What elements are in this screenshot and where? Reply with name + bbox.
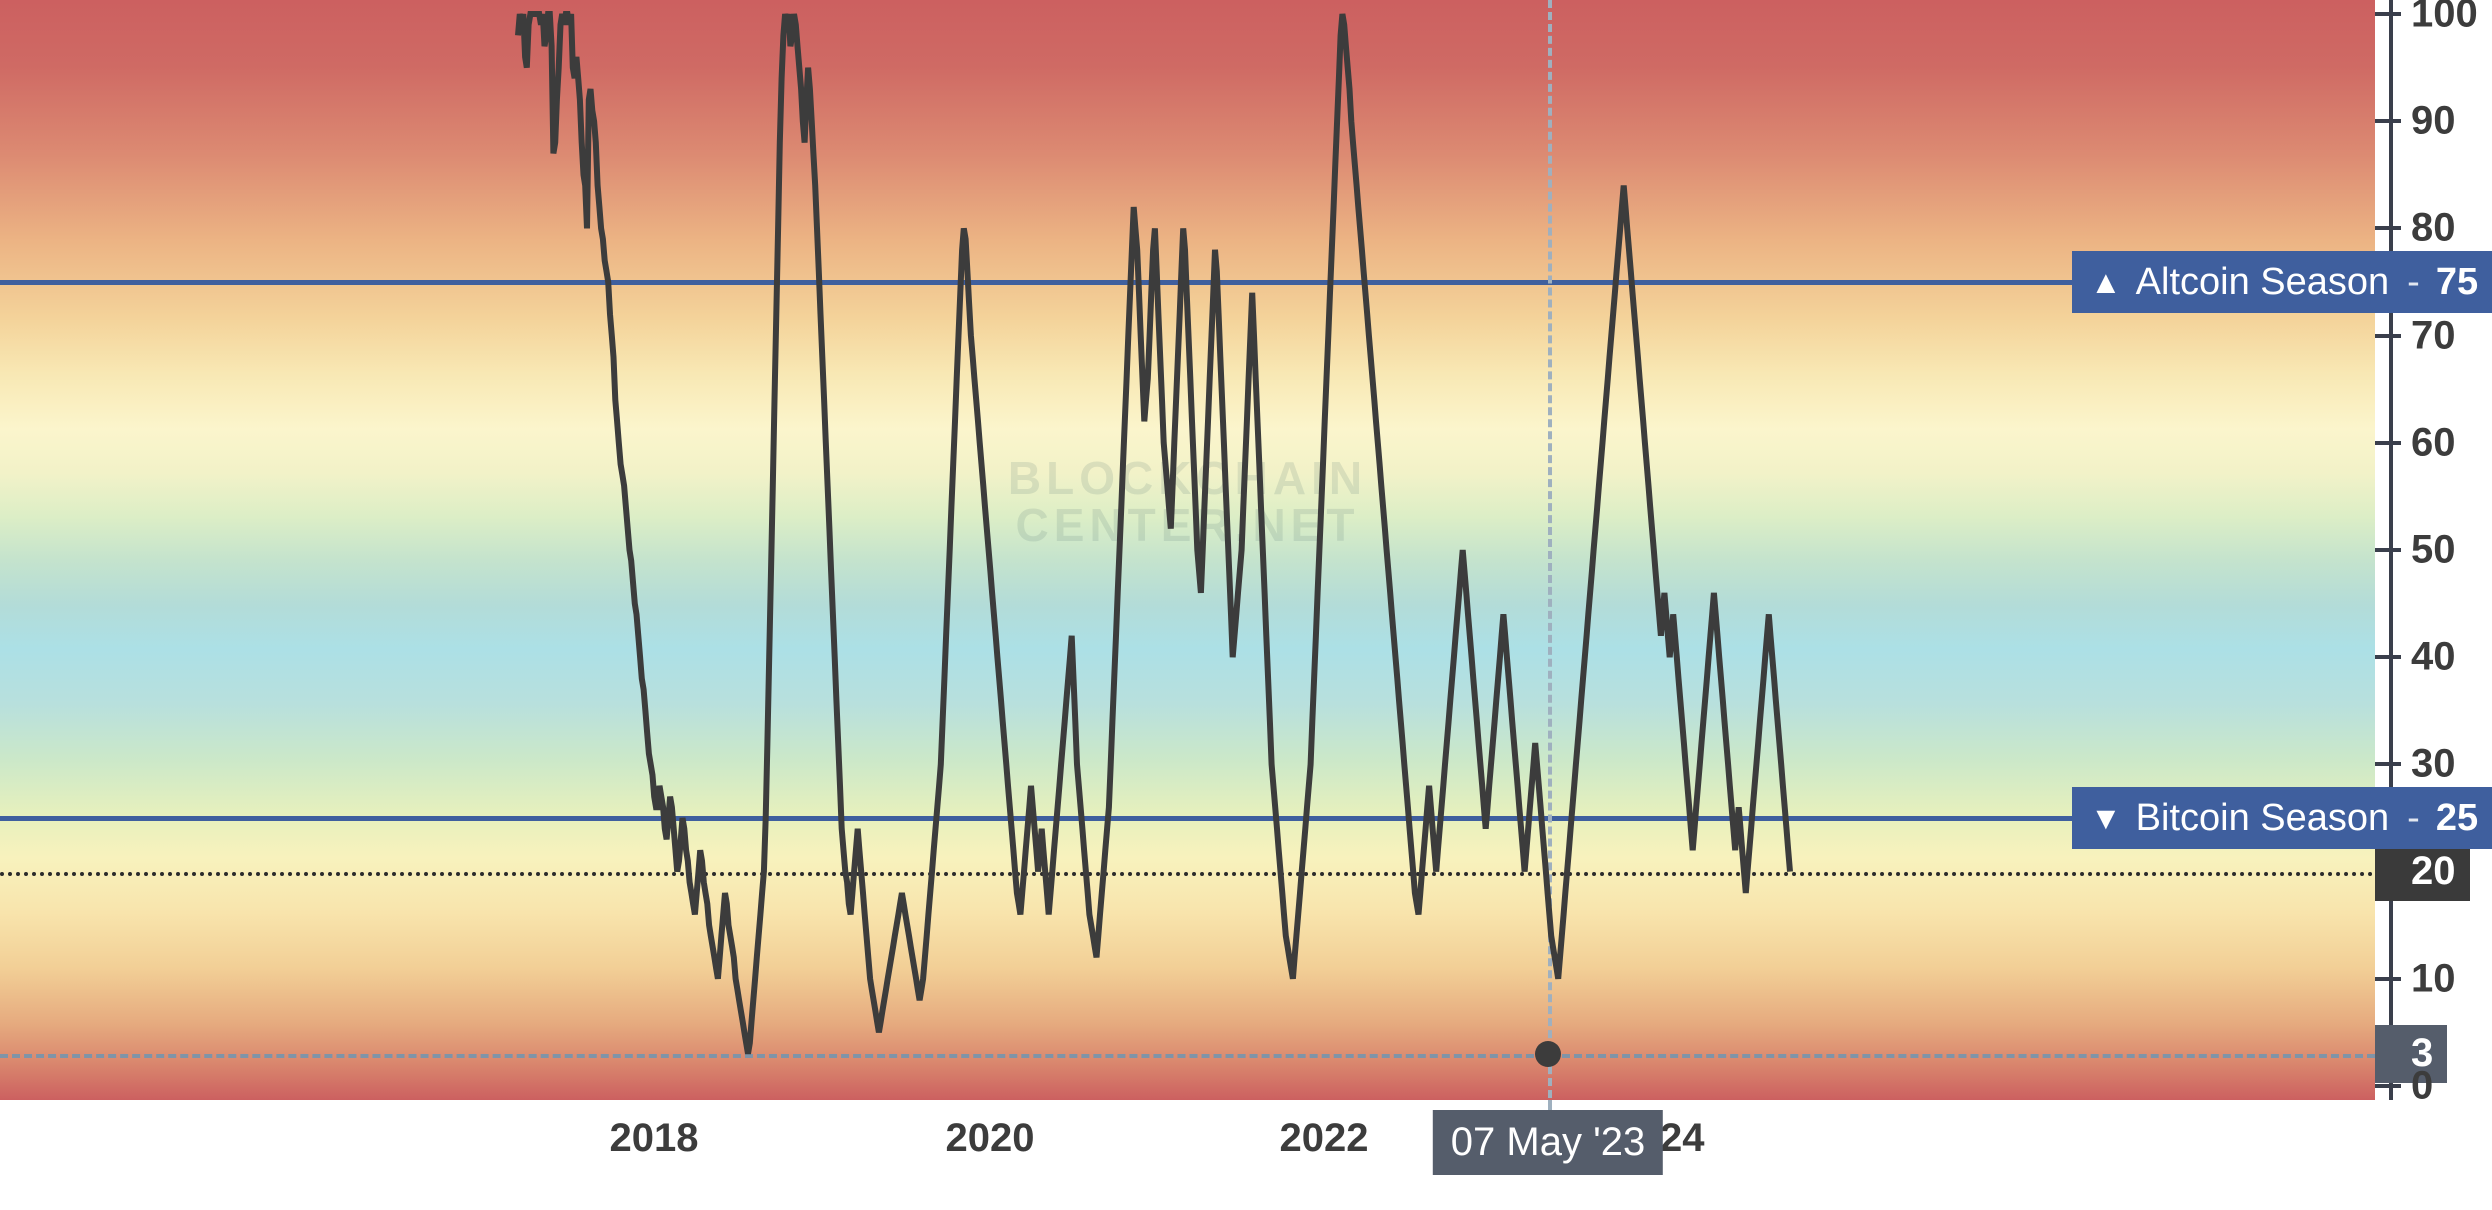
season-threshold-value: 25 <box>2436 797 2478 840</box>
bitcoin-season-threshold-tag[interactable]: ▼Bitcoin Season-25 <box>2072 787 2492 849</box>
y-axis-label-40: 40 <box>2411 635 2456 680</box>
y-axis-label-100: 100 <box>2411 0 2478 37</box>
y-axis-tick-90 <box>2375 119 2401 123</box>
y-axis-label-90: 90 <box>2411 99 2456 144</box>
y-axis-label-80: 80 <box>2411 206 2456 251</box>
y-axis-tick-60 <box>2375 441 2401 445</box>
season-threshold-label: Bitcoin Season <box>2136 797 2390 840</box>
x-axis-label-2020: 2020 <box>946 1116 1035 1161</box>
y-axis-tick-0 <box>2375 1084 2401 1088</box>
y-axis-label-10: 10 <box>2411 956 2456 1001</box>
y-axis-tick-40 <box>2375 655 2401 659</box>
season-threshold-label: Altcoin Season <box>2136 261 2390 304</box>
y-axis-tick-70 <box>2375 334 2401 338</box>
altcoin-season-index-chart: BLOCKCHAIN CENTER.NET 100908070605040302… <box>0 0 2492 1210</box>
season-threshold-separator: - <box>2407 797 2420 840</box>
y-axis-label-50: 50 <box>2411 528 2456 573</box>
x-axis: 2024202220202018 07 May '23 <box>0 1100 2492 1210</box>
chart-plot-area[interactable]: BLOCKCHAIN CENTER.NET <box>0 0 2375 1100</box>
y-axis-tick-10 <box>2375 977 2401 981</box>
y-axis: 10090807060504030201030 <box>2375 0 2492 1100</box>
y-axis-tick-100 <box>2375 12 2401 16</box>
y-axis-label-30: 30 <box>2411 742 2456 787</box>
altcoin-season-index-series <box>0 0 2375 1100</box>
season-threshold-value: 75 <box>2436 261 2478 304</box>
x-axis-label-2022: 2022 <box>1280 1116 1369 1161</box>
y-axis-label-70: 70 <box>2411 313 2456 358</box>
y-axis-tick-30 <box>2375 762 2401 766</box>
y-axis-label-60: 60 <box>2411 420 2456 465</box>
triangle-down-icon: ▼ <box>2090 802 2122 834</box>
altcoin-season-threshold-tag[interactable]: ▲Altcoin Season-75 <box>2072 251 2492 313</box>
y-axis-tick-80 <box>2375 226 2401 230</box>
season-threshold-separator: - <box>2407 261 2420 304</box>
y-axis-tick-50 <box>2375 548 2401 552</box>
triangle-up-icon: ▲ <box>2090 266 2122 298</box>
crosshair-date-tooltip: 07 May '23 <box>1433 1110 1663 1175</box>
x-axis-label-2018: 2018 <box>610 1116 699 1161</box>
y-axis-current-value-badge-20: 20 <box>2375 843 2470 901</box>
